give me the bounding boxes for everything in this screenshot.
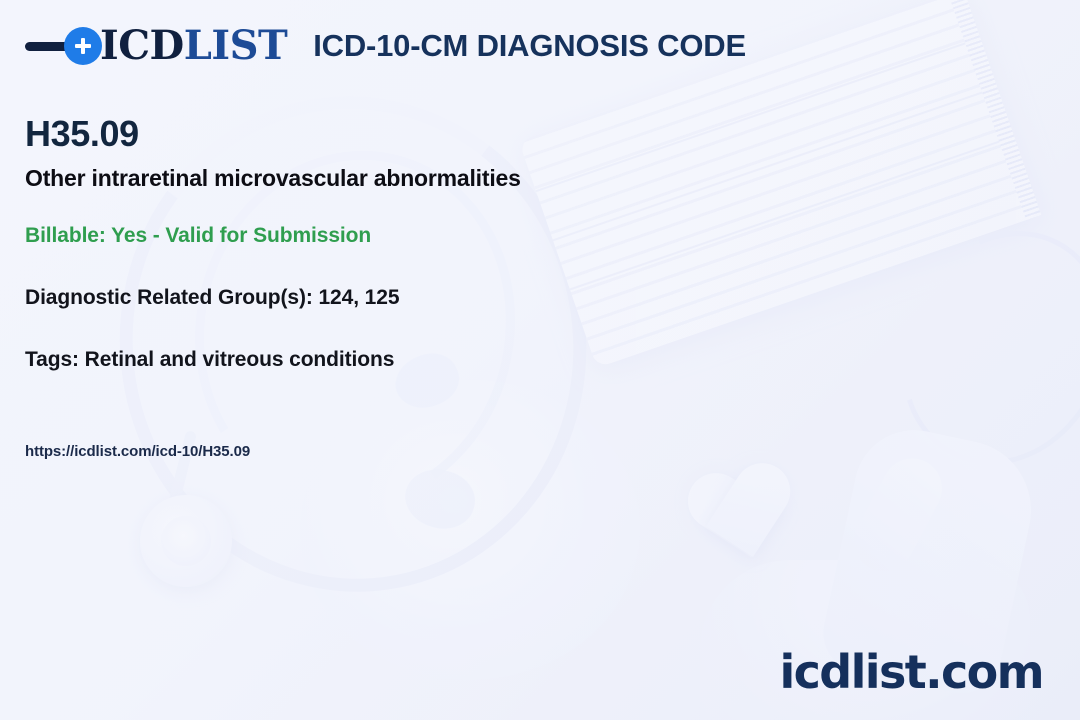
tags-line: Tags: Retinal and vitreous conditions xyxy=(25,348,394,372)
billable-status: Billable: Yes - Valid for Submission xyxy=(25,224,371,248)
diagnosis-description: Other intraretinal microvascular abnorma… xyxy=(25,164,521,193)
logo-wordmark: ICDLIST xyxy=(100,26,287,66)
stethoscope-shadow xyxy=(300,380,640,680)
stethoscope-chestpiece xyxy=(140,495,232,587)
icdlist-logo[interactable]: ICDLIST xyxy=(25,26,287,66)
source-url[interactable]: https://icdlist.com/icd-10/H35.09 xyxy=(25,443,250,460)
stethoscope-earpiece-two xyxy=(398,461,481,536)
heart-shape-icon xyxy=(680,460,808,588)
icd-code-card: ICDLIST ICD-10-CM DIAGNOSIS CODE H35.09 … xyxy=(0,0,1080,720)
logo-text-icd: ICD xyxy=(100,22,184,69)
stethoscope-earpiece-one xyxy=(387,344,467,418)
logo-text-list: LIST xyxy=(184,22,288,69)
diagnosis-code: H35.09 xyxy=(25,114,139,154)
surgical-mask-ear-loop xyxy=(865,198,1080,499)
brand-footer: icdlist.com xyxy=(779,649,1043,695)
plus-circle-icon xyxy=(64,27,102,65)
diagnostic-related-groups: Diagnostic Related Group(s): 124, 125 xyxy=(25,286,399,310)
page-title: ICD-10-CM DIAGNOSIS CODE xyxy=(313,28,746,64)
hand-finger xyxy=(843,448,952,582)
stethoscope-diaphragm xyxy=(161,516,211,566)
page-header: ICDLIST ICD-10-CM DIAGNOSIS CODE xyxy=(25,26,746,66)
stethoscope-tubing-outer xyxy=(88,66,618,622)
